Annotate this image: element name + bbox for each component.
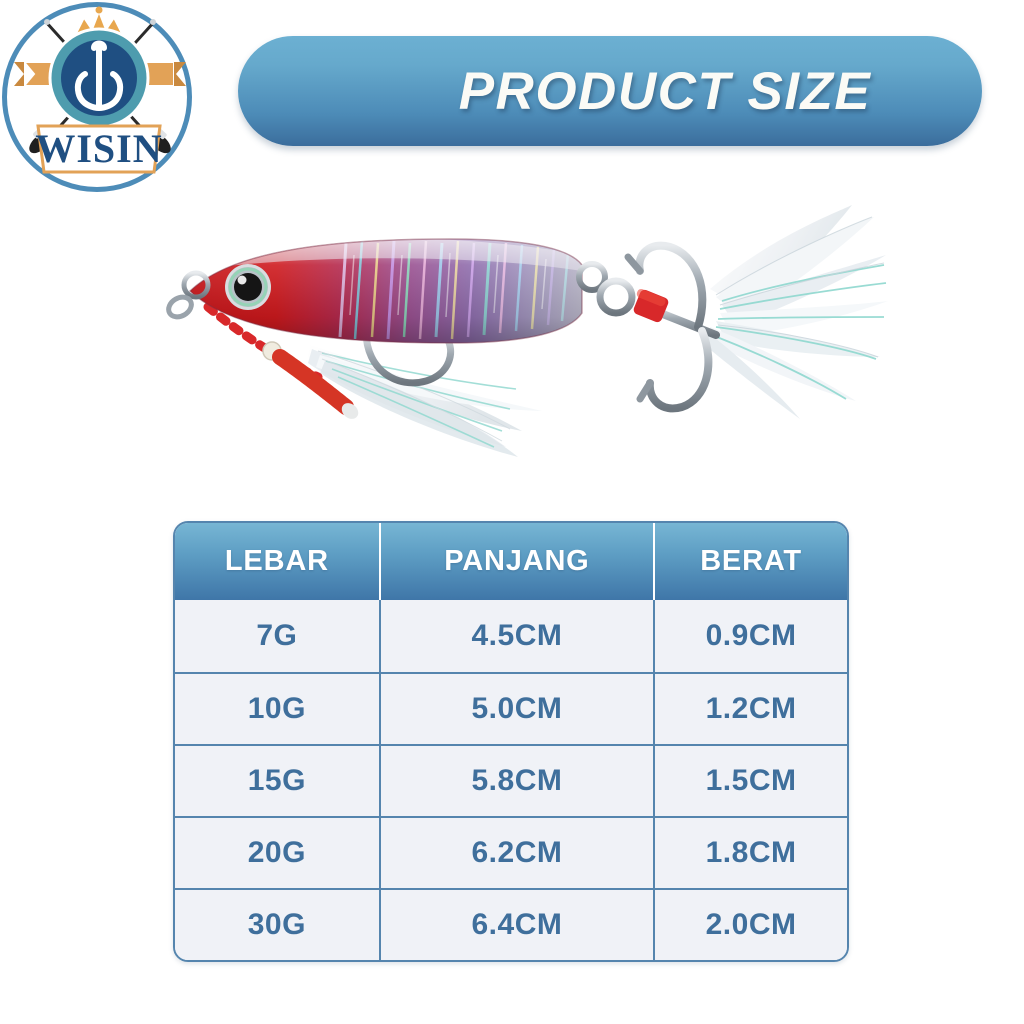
- rear-split-rings: [579, 264, 632, 313]
- brand-name-banner: WISIN: [35, 126, 162, 172]
- table-row: 15G 5.8CM 1.5CM: [175, 744, 847, 816]
- table-row: 10G 5.0CM 1.2CM: [175, 672, 847, 744]
- column-header-panjang: PANJANG: [381, 523, 655, 600]
- cell-berat: 1.8CM: [655, 816, 847, 888]
- cell-berat: 0.9CM: [655, 600, 847, 672]
- column-header-berat: BERAT: [655, 523, 847, 600]
- cell-lebar: 30G: [175, 888, 381, 960]
- table-row: 20G 6.2CM 1.8CM: [175, 816, 847, 888]
- table-row: 30G 6.4CM 2.0CM: [175, 888, 847, 960]
- cell-lebar: 20G: [175, 816, 381, 888]
- treble-hook-points: [628, 257, 650, 399]
- column-header-lebar: LEBAR: [175, 523, 381, 600]
- table-header-row: LEBAR PANJANG BERAT: [175, 523, 847, 600]
- cell-lebar: 10G: [175, 672, 381, 744]
- lure-eye: [225, 264, 271, 310]
- cell-panjang: 5.8CM: [381, 744, 655, 816]
- tail-feather-dressing: [702, 205, 888, 419]
- cell-lebar: 15G: [175, 744, 381, 816]
- cell-lebar: 7G: [175, 600, 381, 672]
- cell-panjang: 6.2CM: [381, 816, 655, 888]
- product-size-table: LEBAR PANJANG BERAT 7G 4.5CM 0.9CM 10G 5…: [173, 521, 849, 962]
- header-banner: PRODUCT SIZE: [238, 36, 982, 146]
- product-photo-metal-jig-lure: [150, 185, 890, 485]
- wisin-brand-logo: WISIN: [6, 4, 192, 190]
- page-title: PRODUCT SIZE: [238, 36, 982, 146]
- product-size-infographic: PRODUCT SIZE: [0, 0, 1024, 1024]
- cell-berat: 1.2CM: [655, 672, 847, 744]
- cell-berat: 1.5CM: [655, 744, 847, 816]
- cell-panjang: 5.0CM: [381, 672, 655, 744]
- table-row: 7G 4.5CM 0.9CM: [175, 600, 847, 672]
- cell-panjang: 6.4CM: [381, 888, 655, 960]
- cell-berat: 2.0CM: [655, 888, 847, 960]
- svg-text:WISIN: WISIN: [35, 126, 162, 171]
- front-split-ring: [165, 273, 208, 321]
- cell-panjang: 4.5CM: [381, 600, 655, 672]
